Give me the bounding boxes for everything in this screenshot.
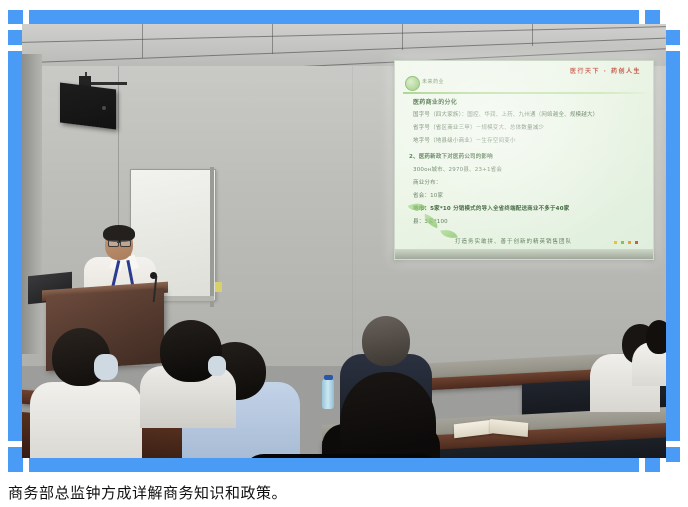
frame-corner-square-right-top bbox=[666, 30, 680, 45]
frame-corner-square-left-top bbox=[8, 30, 22, 45]
slide-body-line: 省会：10家 bbox=[413, 191, 443, 199]
microphone bbox=[150, 272, 157, 279]
wall-switch bbox=[215, 282, 222, 292]
screen-glow bbox=[395, 61, 653, 259]
framed-photo-figure: 未来药业 医行天下 · 药创人生 医药商业的分化 国字号（四大家族）：国控、华润… bbox=[0, 0, 688, 480]
whiteboard-frame-edge bbox=[210, 167, 214, 307]
footer-dot bbox=[635, 241, 638, 244]
frame-corner-square-top-left bbox=[8, 10, 23, 24]
slide-banner-text: 医行天下 · 药创人生 bbox=[570, 66, 641, 75]
speaker-mount-bar bbox=[85, 82, 127, 85]
slide-divider bbox=[403, 92, 645, 94]
screen-bottom-edge bbox=[395, 249, 653, 259]
water-bottle bbox=[322, 379, 334, 409]
slide-body-line: 国字号（四大家族）：国控、华润、上药、九州通（网络越全、规模越大） bbox=[413, 110, 598, 118]
wall-speaker bbox=[60, 83, 116, 130]
frame-bar-right bbox=[666, 51, 680, 441]
seminar-photo: 未来药业 医行天下 · 药创人生 医药商业的分化 国字号（四大家族）：国控、华润… bbox=[22, 24, 666, 458]
frame-bar-left bbox=[8, 51, 22, 441]
slide-brand-label: 未来药业 bbox=[422, 78, 444, 85]
leaf-icon bbox=[408, 199, 427, 215]
face-mask bbox=[94, 354, 118, 380]
presenter-glasses-bridge bbox=[117, 242, 120, 243]
slide-body-line: 300он城市、2970县、23+1省会 bbox=[413, 165, 502, 173]
frame-bar-top bbox=[29, 10, 639, 24]
side-wall bbox=[22, 54, 42, 354]
frame-corner-square-right-bottom bbox=[666, 447, 680, 462]
footer-dot bbox=[614, 241, 617, 244]
frame-corner-square-bottom-right bbox=[645, 458, 660, 472]
audience-head bbox=[362, 316, 410, 366]
slide-body-line: 地字号（地县级小商业）－生存空间变小 bbox=[413, 136, 516, 144]
slide-body-line: 省字号（省区商业三甲）－规模变大、总体数量减少 bbox=[413, 123, 544, 131]
frame-corner-square-left-bottom bbox=[8, 447, 22, 462]
footer-dot bbox=[621, 241, 624, 244]
caption-text: 商务部总监钟方成详解商务知识和政策。 bbox=[8, 482, 287, 503]
presenter-glasses bbox=[120, 240, 131, 247]
slide-logo-icon bbox=[405, 76, 420, 91]
speaker-driver-dot bbox=[102, 106, 106, 110]
slide-footer-text: 打造务实敢拼、善于创新的精英销售团队 bbox=[455, 237, 572, 245]
water-bottle-cap bbox=[324, 375, 333, 380]
slide-title: 医药商业的分化 bbox=[413, 97, 457, 106]
slide-body-line: 商业分布： bbox=[413, 178, 442, 186]
audience-member bbox=[30, 382, 142, 458]
face-mask bbox=[208, 356, 226, 376]
projection-screen: 未来药业 医行天下 · 药创人生 医药商业的分化 国字号（四大家族）：国控、华润… bbox=[394, 60, 654, 260]
slide-body-line-highlight: 地市：5家*10 分销模式的导入全省终端配送商业不多于40家 bbox=[413, 204, 569, 212]
audience-head bbox=[646, 320, 666, 354]
frame-bar-bottom bbox=[29, 458, 639, 472]
footer-dot bbox=[628, 241, 631, 244]
caption-area: 商务部总监钟方成详解商务知识和政策。 bbox=[0, 480, 688, 507]
frame-corner-square-top-right bbox=[645, 10, 660, 24]
slide-body-line: 2、医药新政下对医药公司的影响 bbox=[409, 152, 493, 160]
photo-scene: 未来药业 医行天下 · 药创人生 医药商业的分化 国字号（四大家族）：国控、华润… bbox=[22, 24, 666, 458]
